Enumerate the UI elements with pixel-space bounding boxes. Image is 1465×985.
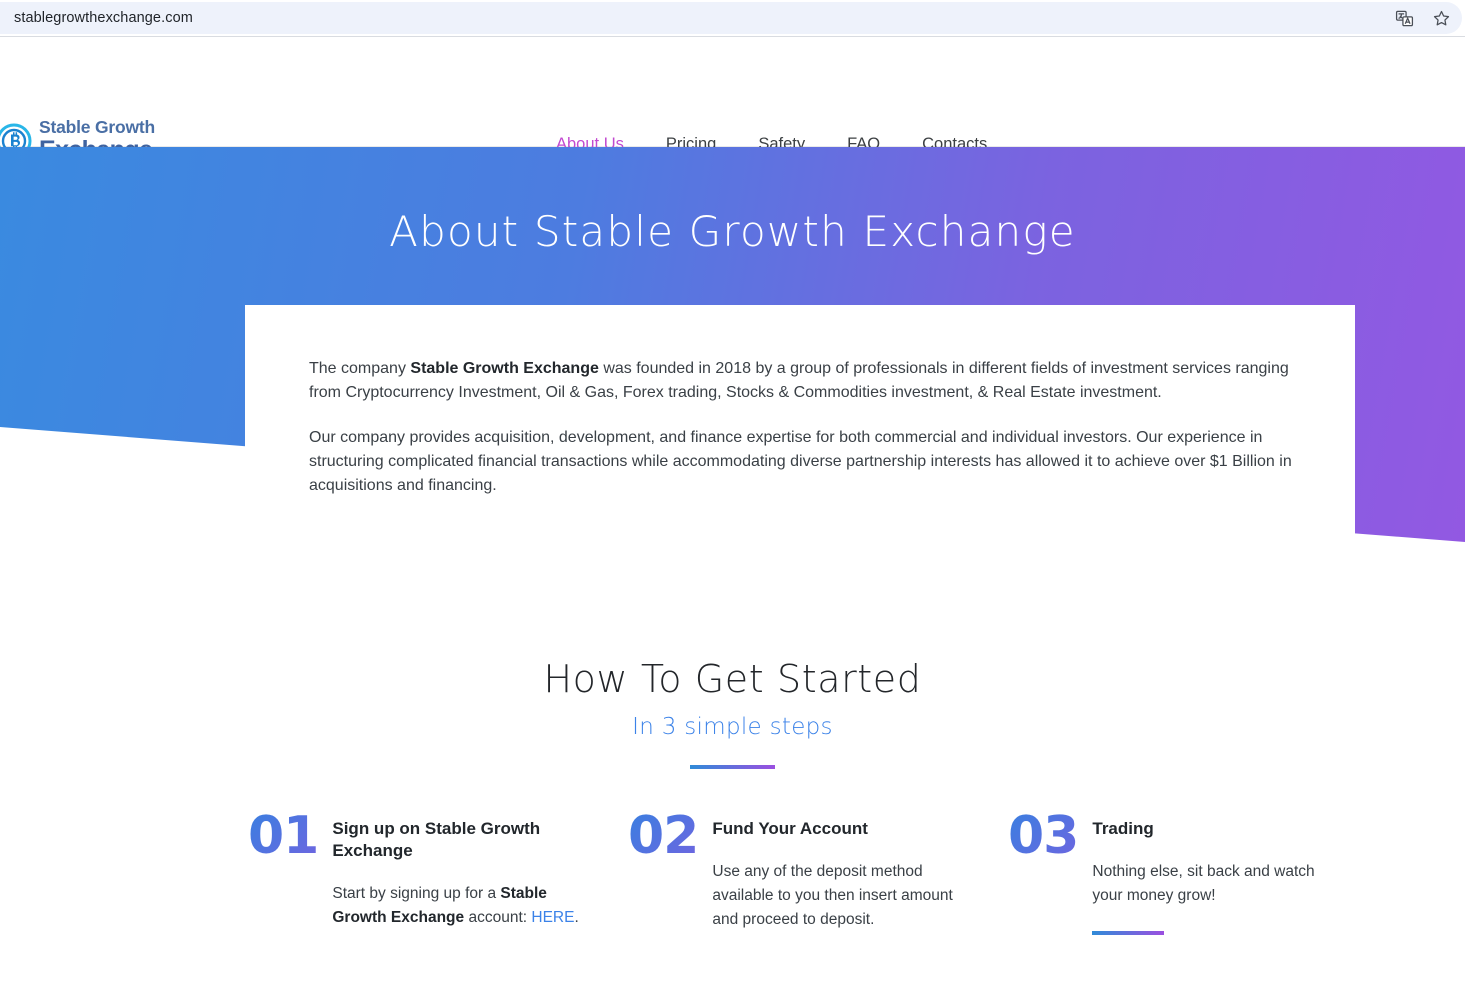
step-description: Start by signing up for a Stable Growth … [332,882,584,930]
about-p1-brand: Stable Growth Exchange [410,360,598,377]
step-item: 03 Trading Nothing else, sit back and wa… [1008,812,1388,935]
site-header: Stable Growth Exchange About Us Pricing … [0,37,1465,147]
step-body: Sign up on Stable Growth Exchange Start … [332,812,584,935]
about-card: The company Stable Growth Exchange was f… [245,305,1355,549]
hero-section: About Stable Growth Exchange The company… [0,147,1465,647]
about-paragraph-1: The company Stable Growth Exchange was f… [309,357,1297,404]
step-title: Fund Your Account [712,818,964,840]
step-number: 02 [628,812,698,935]
section-subheading: In 3 simple steps [0,714,1465,740]
step-number: 03 [1008,812,1078,935]
signup-link[interactable]: HERE [531,909,574,926]
about-p1-pre: The company [309,360,410,377]
step-number: 01 [248,812,318,935]
page-title: About Stable Growth Exchange [0,207,1465,256]
step-description: Nothing else, sit back and watch your mo… [1092,860,1344,908]
logo-line-1: Stable Growth [39,119,155,137]
step-title: Sign up on Stable Growth Exchange [332,818,584,862]
step-text-mid: account: [464,909,531,926]
step-description: Use any of the deposit method available … [712,860,964,932]
step-body: Fund Your Account Use any of the deposit… [712,812,964,935]
step-body: Trading Nothing else, sit back and watch… [1092,812,1344,935]
steps-list: 01 Sign up on Stable Growth Exchange Sta… [0,812,1465,935]
step-item: 02 Fund Your Account Use any of the depo… [628,812,1008,935]
step-title: Trading [1092,818,1344,840]
step-text-post: . [574,909,578,926]
about-paragraph-2: Our company provides acquisition, develo… [309,426,1297,497]
star-icon[interactable] [1432,9,1451,28]
section-heading: How To Get Started [0,657,1465,701]
address-bar[interactable]: stablegrowthexchange.com [0,2,1462,34]
translate-icon[interactable] [1395,9,1414,28]
step-item: 01 Sign up on Stable Growth Exchange Sta… [248,812,628,935]
address-bar-url: stablegrowthexchange.com [14,10,193,26]
browser-toolbar: stablegrowthexchange.com [0,0,1465,36]
omnibox-actions [1395,0,1451,36]
step-text-pre: Start by signing up for a [332,885,500,902]
section-divider [690,765,775,769]
get-started-section: How To Get Started In 3 simple steps 01 … [0,647,1465,935]
step-divider [1092,931,1164,935]
